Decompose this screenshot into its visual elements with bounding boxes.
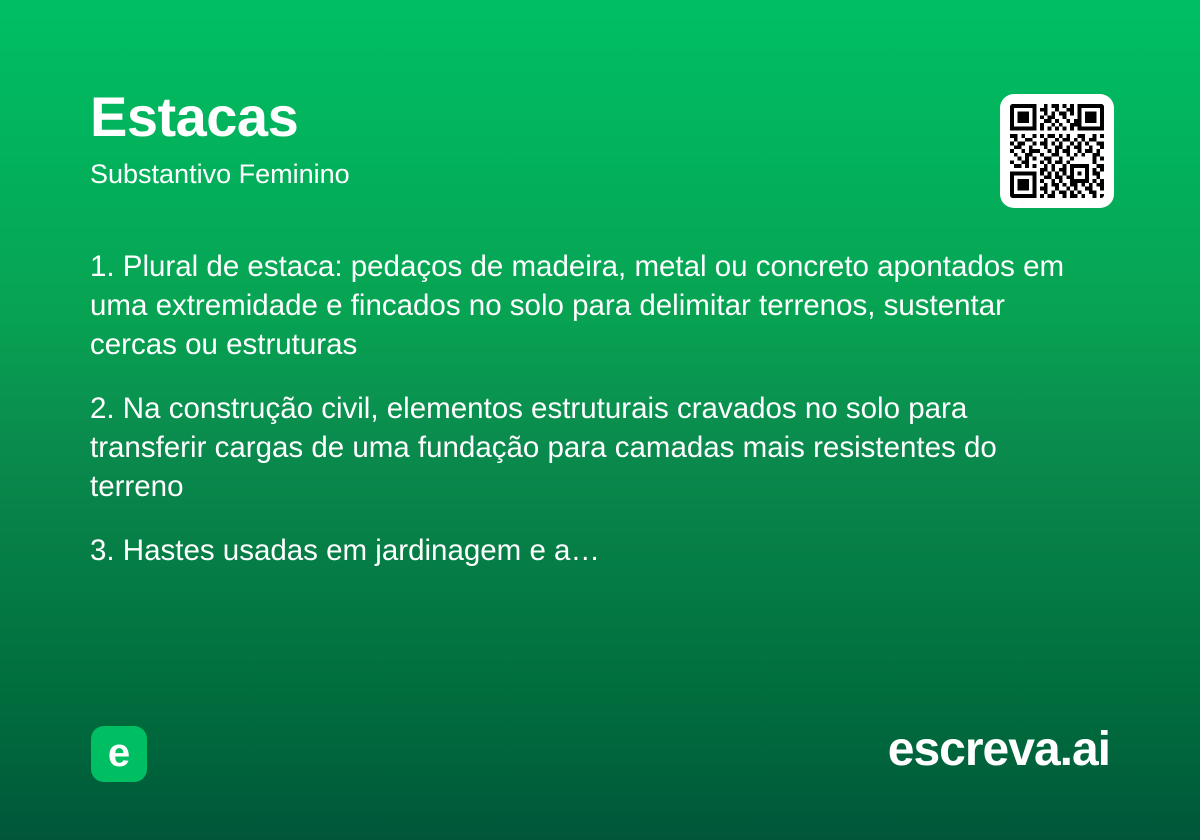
- definition-item: 2. Na construção civil, elementos estrut…: [90, 390, 1070, 507]
- dictionary-card: Estacas Substantivo Feminino: [0, 0, 1200, 840]
- brand-logo-letter: e: [108, 733, 130, 773]
- brand-logo[interactable]: e: [91, 726, 147, 782]
- qr-code-icon: [1010, 104, 1104, 198]
- header-block: Estacas Substantivo Feminino: [90, 88, 920, 190]
- word-class-label: Substantivo Feminino: [90, 159, 920, 190]
- definition-item: 3. Hastes usadas em jardinagem e a…: [90, 532, 1070, 571]
- qr-code-card[interactable]: [1000, 94, 1114, 208]
- page-title: Estacas: [90, 88, 920, 147]
- definitions-list: 1. Plural de estaca: pedaços de madeira,…: [90, 248, 1070, 571]
- definition-item: 1. Plural de estaca: pedaços de madeira,…: [90, 248, 1070, 365]
- brand-name: escreva.ai: [888, 722, 1110, 777]
